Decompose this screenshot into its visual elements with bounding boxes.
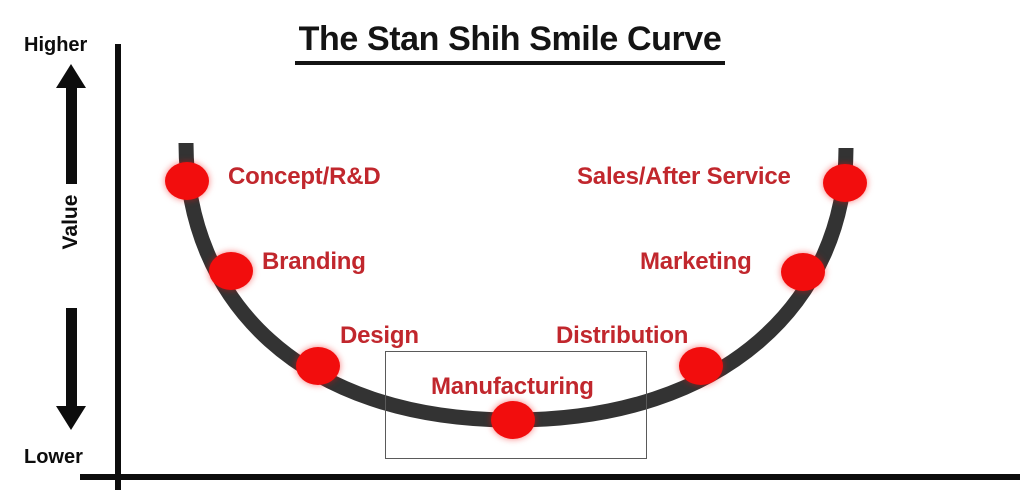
smile-curve-diagram: The Stan Shih Smile Curve Higher Value L… [0,0,1020,490]
stage-label-marketing: Marketing [640,248,752,276]
y-axis-top-label: Higher [24,34,87,57]
arrow-up-icon [56,64,86,184]
arrow-down-icon [56,308,86,430]
y-axis-line [115,44,121,490]
page-title-text: The Stan Shih Smile Curve [295,20,726,65]
stage-label-design: Design [340,322,419,350]
arrow-up-shaft [66,84,77,184]
node-dot-distribution[interactable] [679,347,723,385]
stage-label-branding: Branding [262,248,366,276]
stage-label-sales-after-service: Sales/After Service [577,163,791,191]
node-dot-marketing[interactable] [781,253,825,291]
y-axis-bottom-label: Lower [24,446,83,469]
arrow-down-shaft [66,308,77,408]
node-dot-sales-after-service[interactable] [823,164,867,202]
stage-label-concept-rd: Concept/R&D [228,163,380,191]
arrow-down-head [56,406,86,430]
node-dot-manufacturing[interactable] [491,401,535,439]
stage-label-manufacturing: Manufacturing [431,373,594,401]
x-axis-line [80,474,1020,480]
y-axis-title: Value [59,174,83,270]
node-dot-design[interactable] [296,347,340,385]
stage-label-distribution: Distribution [556,322,688,350]
node-dot-branding[interactable] [209,252,253,290]
node-dot-concept-rd[interactable] [165,162,209,200]
page-title: The Stan Shih Smile Curve [0,20,1020,65]
